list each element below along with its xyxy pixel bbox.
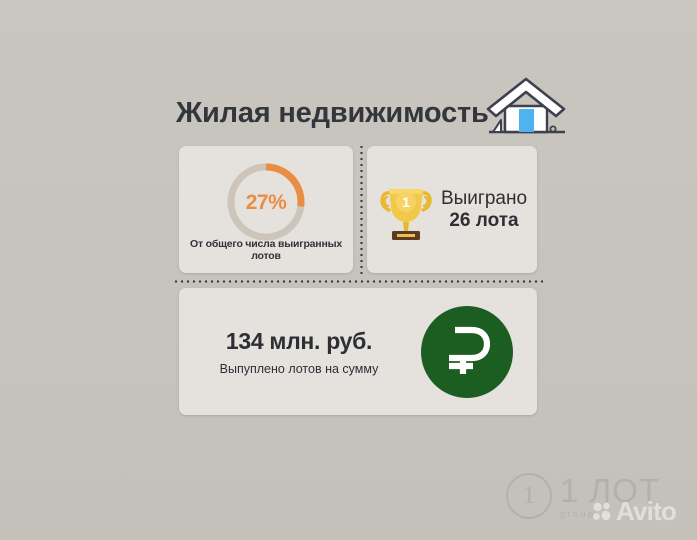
- infographic-canvas: Жилая недвижимость 27% От: [0, 0, 697, 540]
- horizontal-dotted-divider: [173, 280, 543, 283]
- donut-percent-label: 27%: [224, 191, 308, 215]
- trophy-icon: 1: [377, 177, 435, 243]
- page-title: Жилая недвижимость: [176, 99, 489, 134]
- vertical-dotted-divider: [360, 144, 363, 278]
- sum-value: 134 млн. руб.: [185, 328, 413, 355]
- lot-watermark-badge: 1: [506, 473, 552, 519]
- donut-chart: 27%: [224, 160, 308, 244]
- page-title-row: Жилая недвижимость: [176, 72, 556, 134]
- avito-watermark-text: Avito: [616, 498, 676, 524]
- trophy-value: 26 лота: [441, 210, 527, 231]
- avito-dots-icon: [592, 501, 612, 521]
- avito-watermark: Avito: [592, 498, 676, 524]
- donut-stat-card: 27% От общего числа выигранных лотов: [179, 146, 353, 273]
- sum-stat-card: 134 млн. руб. Выпуплено лотов на сумму: [179, 288, 537, 415]
- sum-caption: Выпуплено лотов на сумму: [185, 362, 413, 376]
- svg-text:1: 1: [402, 194, 410, 210]
- ruble-icon: [421, 306, 513, 398]
- trophy-stat-card: 1 Выиграно 26 лота: [367, 146, 537, 273]
- donut-caption: От общего числа выигранных лотов: [179, 238, 353, 262]
- trophy-label: Выиграно: [441, 188, 527, 209]
- house-icon: [483, 76, 569, 138]
